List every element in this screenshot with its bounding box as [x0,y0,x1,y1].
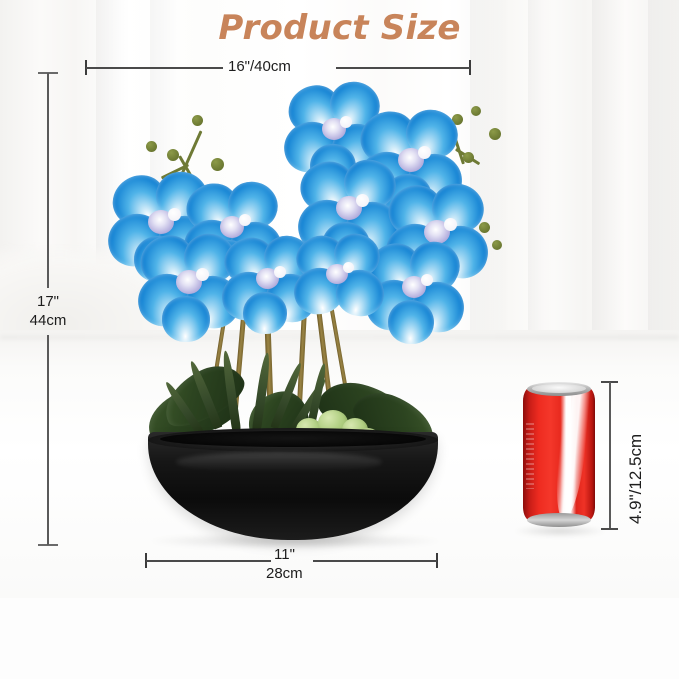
dimension-label-can-height: 4.9"/12.5cm [626,434,646,524]
note-banner: NOTE: Size shown reflects the arrangemen… [0,598,679,679]
soda-can [523,379,595,529]
dimension-label-base-in: 11" [274,546,295,563]
dimension-label-height-in: 17" [22,292,74,311]
dimension-label-width-top: 16"/40cm [228,58,291,75]
product-size-infographic: Product Size [0,0,679,679]
dimension-label-height-cm: 44cm [22,311,74,330]
dimension-label-base-cm: 28cm [266,565,303,582]
